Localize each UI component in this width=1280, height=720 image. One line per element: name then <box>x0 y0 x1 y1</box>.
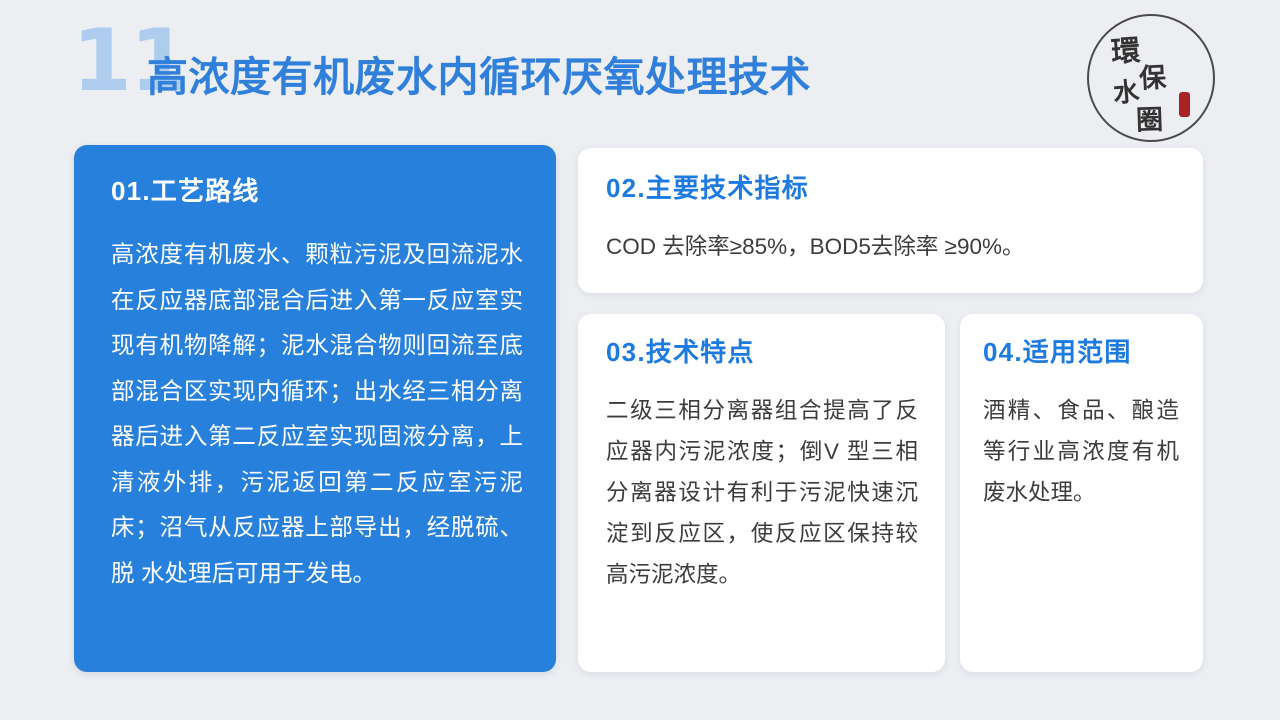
card-heading: 03.技术特点 <box>606 336 755 368</box>
logo-char-1: 環 <box>1110 27 1142 71</box>
card-technical-indicators: 02.主要技术指标 COD 去除率≥85%，BOD5去除率 ≥90%。 <box>578 148 1203 293</box>
logo-char-4: 圈 <box>1135 98 1163 138</box>
card-body-text: COD 去除率≥85%，BOD5去除率 ≥90%。 <box>606 226 1176 267</box>
card-process-route: 01.工艺路线 高浓度有机废水、颗粒污泥及回流泥水在反应器底部混合后进入第一反应… <box>74 145 556 672</box>
logo-seal-icon <box>1179 92 1190 117</box>
card-technical-features: 03.技术特点 二级三相分离器组合提高了反应器内污泥浓度；倒V 型三相分离器设计… <box>578 314 945 672</box>
card-body-text: 二级三相分离器组合提高了反应器内污泥浓度；倒V 型三相分离器设计有利于污泥快速沉… <box>606 390 918 595</box>
logo-char-2: 保 <box>1138 55 1167 95</box>
page-title: 高浓度有机废水内循环厌氧处理技术 <box>147 53 811 101</box>
card-application-scope: 04.适用范围 酒精、食品、酿造等行业高浓度有机废水处理。 <box>960 314 1203 672</box>
card-heading: 01.工艺路线 <box>111 175 260 207</box>
card-body-text: 高浓度有机废水、颗粒污泥及回流泥水在反应器底部混合后进入第一反应室实现有机物降解… <box>111 232 523 596</box>
card-body-text: 酒精、食品、酿造等行业高浓度有机废水处理。 <box>983 390 1179 513</box>
card-heading: 04.适用范围 <box>983 336 1132 368</box>
brand-logo: 環 保 水 圈 <box>1087 14 1219 146</box>
card-heading: 02.主要技术指标 <box>606 172 809 204</box>
slide-root: 11 高浓度有机废水内循环厌氧处理技术 環 保 水 圈 01.工艺路线 高浓度有… <box>0 0 1280 720</box>
